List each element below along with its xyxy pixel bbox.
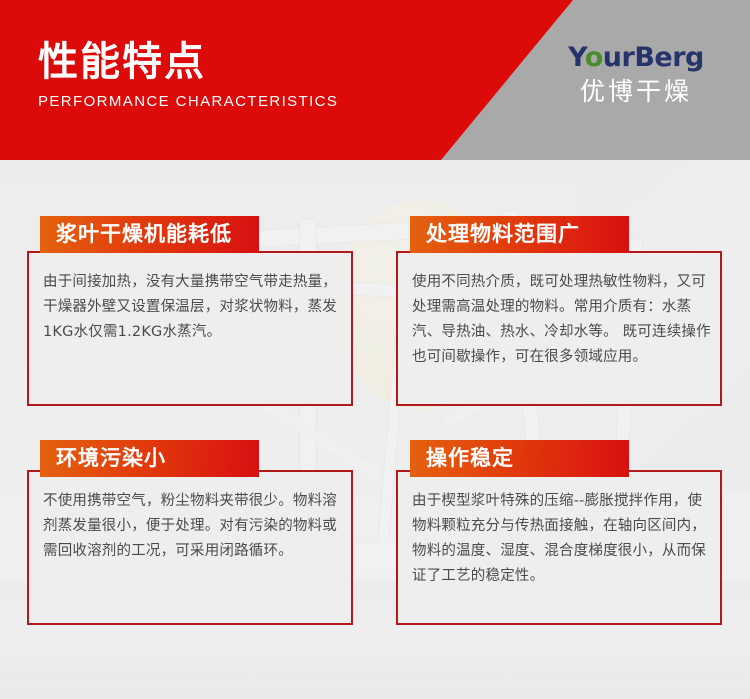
- logo-wordmark: YourBerg: [568, 44, 704, 71]
- logo-wordmark-part-3: urBerg: [603, 42, 704, 73]
- feature-card-body-1: 由于间接加热，没有大量携带空气带走热量，干燥器外壁又设置保温层，对浆状物料，蒸发…: [43, 270, 343, 345]
- header-title-group: 性能特点 PERFORMANCE CHARACTERISTICS: [38, 42, 338, 110]
- feature-card-title-3: 环境污染小: [56, 448, 166, 469]
- feature-card-body-3: 不使用携带空气，粉尘物料夹带很少。物料溶剂蒸发量很小，便于处理。对有污染的物料或…: [43, 489, 343, 564]
- feature-card-title-badge-3: 环境污染小: [40, 440, 259, 477]
- feature-card-title-2: 处理物料范围广: [426, 224, 580, 245]
- feature-card-body-2: 使用不同热介质，既可处理热敏性物料，又可处理需高温处理的物料。常用介质有：水蒸汽…: [412, 270, 712, 370]
- page-header: 性能特点 PERFORMANCE CHARACTERISTICS YourBer…: [0, 0, 750, 160]
- feature-card-body-4: 由于楔型浆叶特殊的压缩--膨胀搅拌作用，使物料颗粒充分与传热面接触，在轴向区间内…: [412, 489, 712, 589]
- feature-card-title-badge-1: 浆叶干燥机能耗低: [40, 216, 259, 253]
- performance-characteristics-page: 证 企 业 性能特点 PERFORMANCE CHARACTERISTICS Y…: [0, 0, 750, 699]
- logo-leaf-accent-icon: o: [585, 42, 603, 73]
- feature-card-title-4: 操作稳定: [426, 448, 514, 469]
- feature-card-title-badge-4: 操作稳定: [410, 440, 629, 477]
- page-subtitle: PERFORMANCE CHARACTERISTICS: [38, 93, 338, 110]
- brand-logo: YourBerg 优博干燥: [556, 44, 716, 104]
- logo-company-name-cn: 优博干燥: [556, 79, 716, 104]
- logo-wordmark-part-1: Y: [568, 42, 585, 73]
- page-title: 性能特点: [38, 42, 338, 82]
- feature-card-title-1: 浆叶干燥机能耗低: [56, 224, 232, 245]
- feature-card-title-badge-2: 处理物料范围广: [410, 216, 629, 253]
